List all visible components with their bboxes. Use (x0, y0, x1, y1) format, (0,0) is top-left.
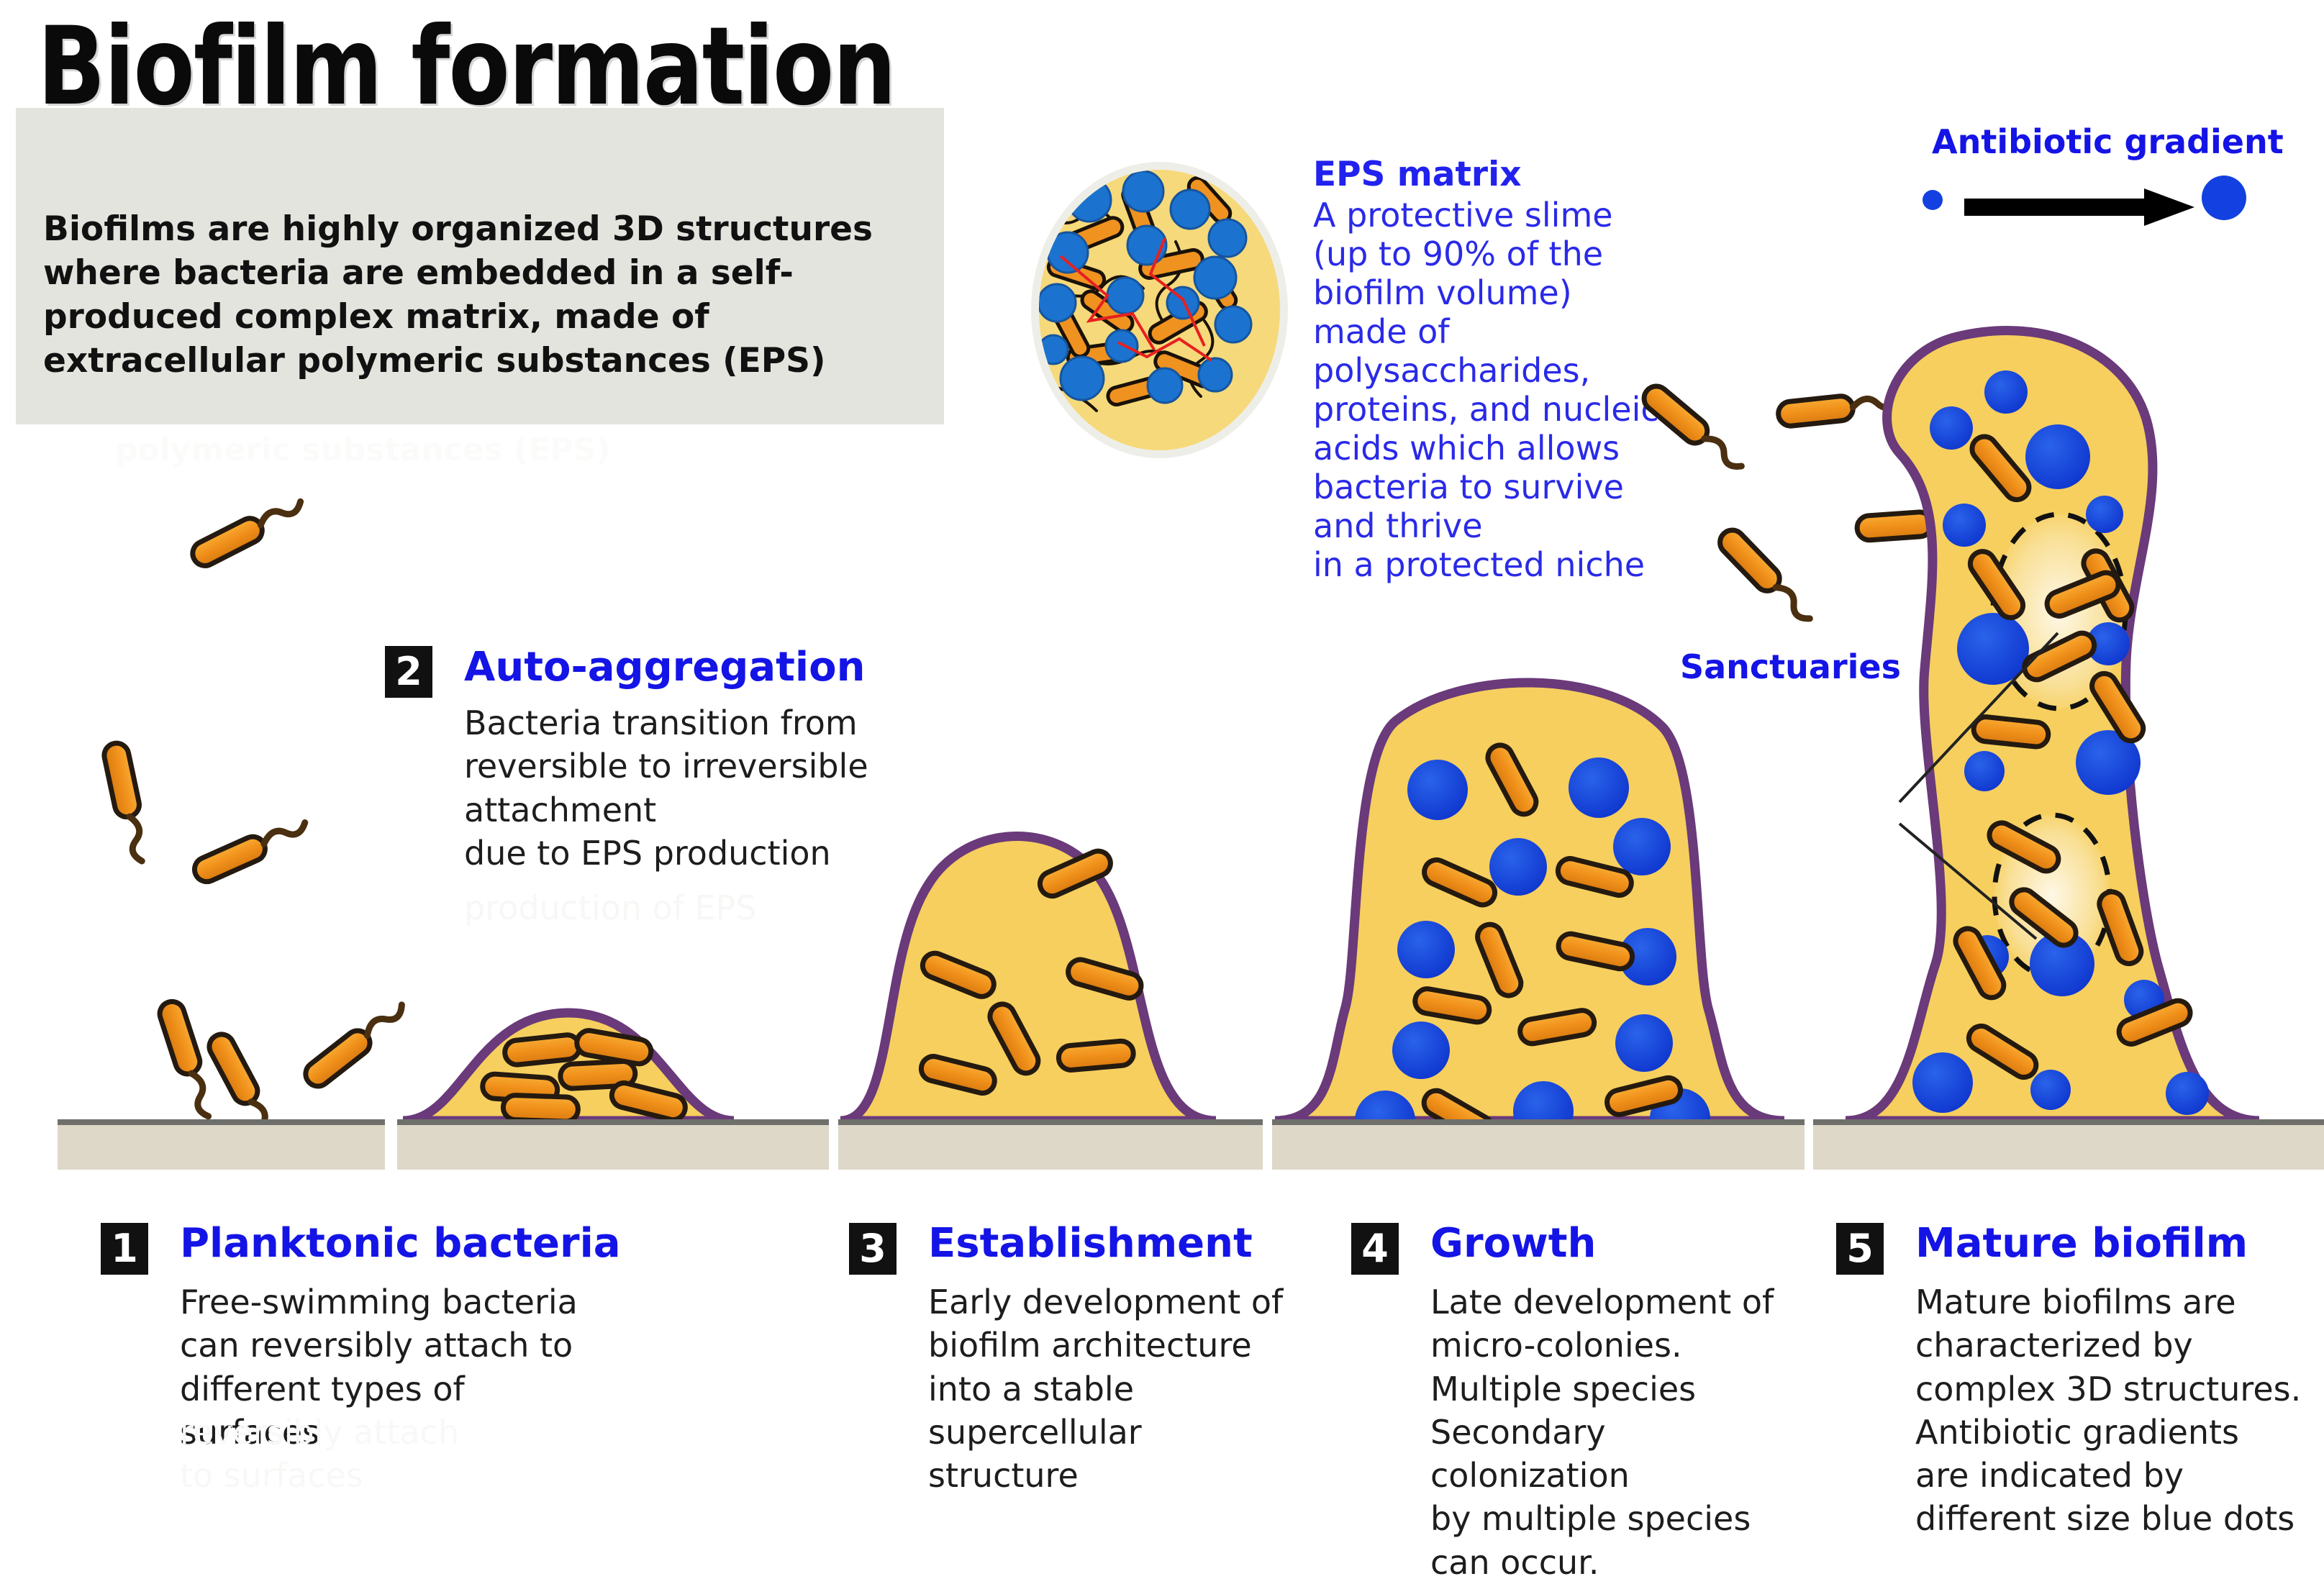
step-5-number: 5 (1836, 1223, 1884, 1275)
gradient-arrow-icon (1964, 187, 2194, 213)
antibiotic-small-dot-icon (1923, 190, 1943, 210)
step-3-body: Early development of biofilm architectur… (928, 1280, 1295, 1497)
substrate-strip-3 (838, 1119, 1263, 1170)
stage4-growth-colony (1275, 683, 1784, 1151)
stage1-planktonic-bacteria (102, 493, 412, 1149)
step-5-body: Mature biofilms are characterized by com… (1915, 1280, 2301, 1541)
step-3-number: 3 (849, 1223, 897, 1275)
stage3-establishment-dome (840, 837, 1216, 1121)
substrate-strip-5 (1813, 1119, 2324, 1170)
page-title: Biofilm formation (37, 13, 895, 121)
step-4-body: Late development of micro-colonies. Mult… (1430, 1280, 1797, 1584)
step-4-number: 4 (1351, 1223, 1399, 1275)
step-5-title: Mature biofilm (1915, 1220, 2248, 1267)
antibiotic-large-dot-icon (2202, 176, 2246, 220)
biofilm-stages-illustration (0, 237, 2324, 1129)
stage2-autoaggregation-mound (403, 1013, 734, 1122)
step-2-body: Bacteria transition from reversible to i… (464, 701, 910, 875)
step-2-title: Auto-aggregation (464, 644, 865, 691)
stage5-mature-biofilm-tower (1639, 331, 2259, 1121)
step-1-title: Planktonic bacteria (180, 1220, 621, 1267)
substrate-strip-4 (1272, 1119, 1805, 1170)
step-1-number: 1 (101, 1223, 148, 1275)
step-2-ghost-text: production of EPS (464, 888, 910, 927)
step-3-title: Establishment (928, 1220, 1253, 1267)
step-2-number: 2 (385, 646, 432, 698)
antibiotic-gradient-label: Antibiotic gradient (1932, 122, 2284, 161)
antibiotic-gradient-legend (1914, 173, 2245, 223)
sanctuaries-label: Sanctuaries (1680, 647, 1901, 686)
step-1-ghost-text: reversibly attach to surfaces (180, 1280, 459, 1497)
eps-matrix-heading: EPS matrix (1313, 155, 1651, 194)
substrate-strip-1 (58, 1119, 385, 1170)
step-4-title: Growth (1430, 1220, 1596, 1267)
substrate-strip-2 (397, 1119, 829, 1170)
step-2-number-badge: 2 (385, 646, 432, 698)
